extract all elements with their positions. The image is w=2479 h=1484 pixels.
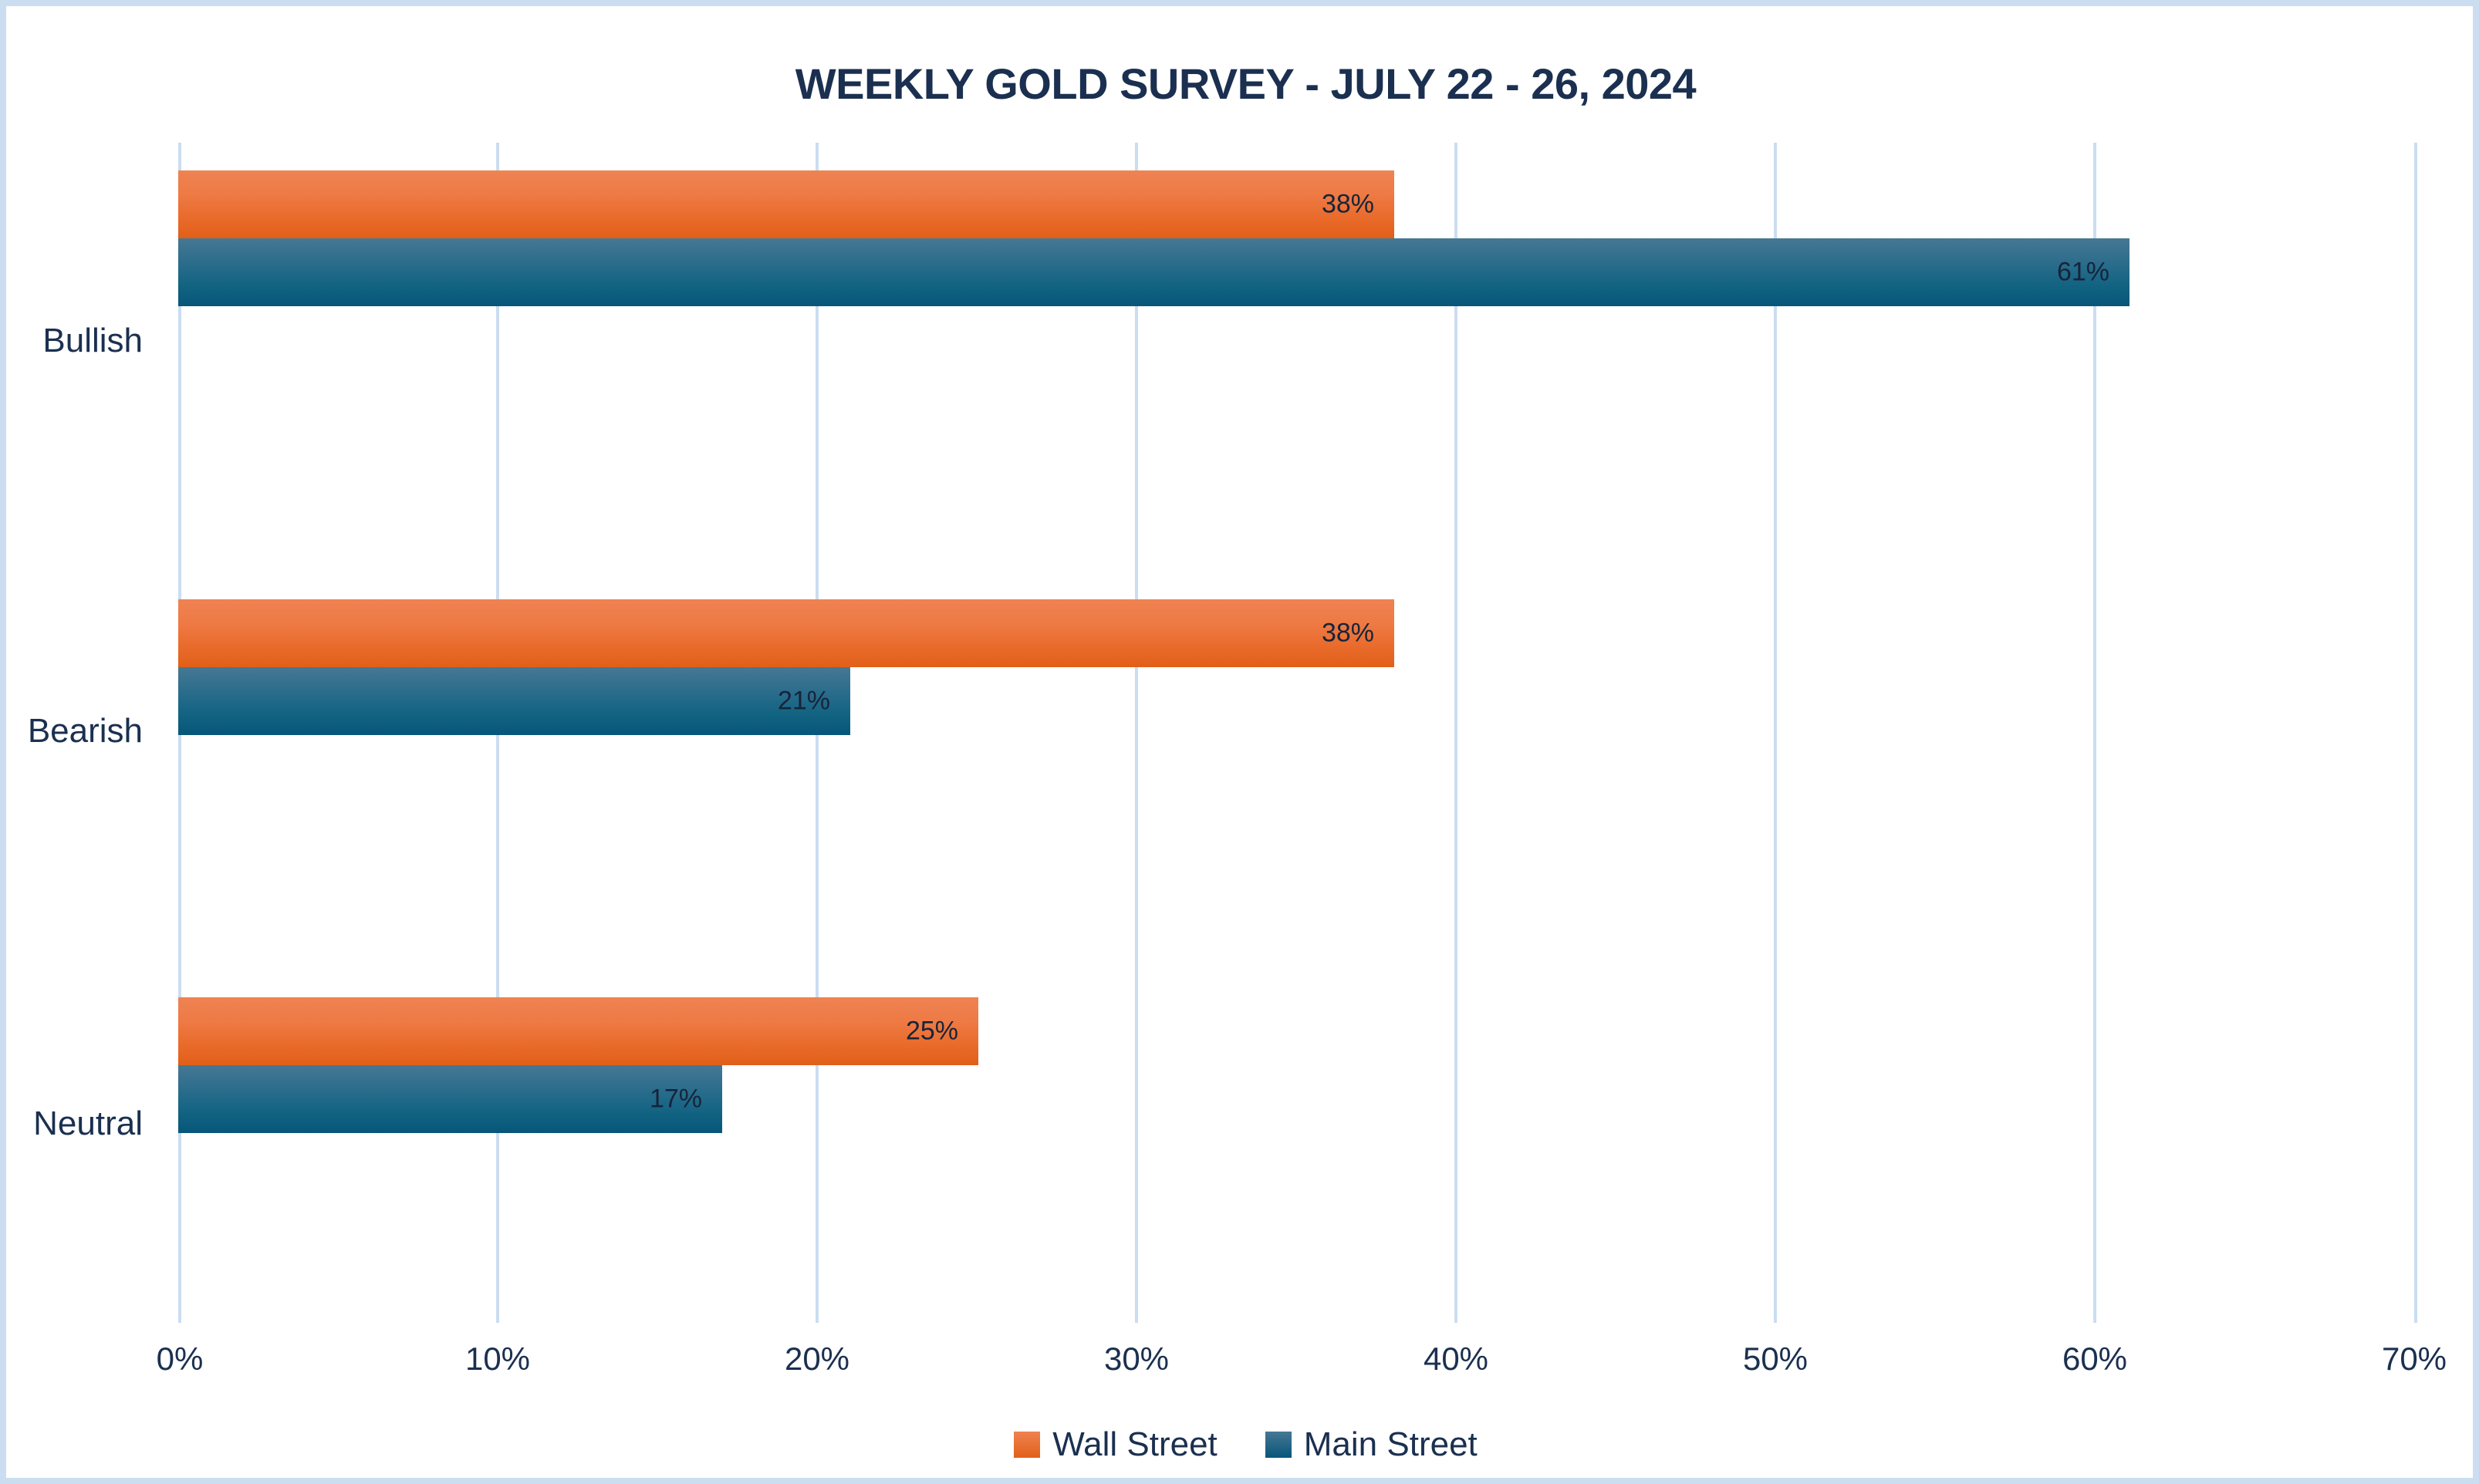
bar-bullish-wall-street[interactable]: 38% (178, 170, 1394, 238)
chart-page: WEEKLY GOLD SURVEY - JULY 22 - 26, 2024 … (0, 0, 2479, 1484)
x-tick-40: 40% (1424, 1341, 1488, 1378)
bar-bearish-wall-street[interactable]: 38% (178, 599, 1394, 667)
legend-label: Main Street (1304, 1425, 1478, 1464)
page-title: WEEKLY GOLD SURVEY - JULY 22 - 26, 2024 (6, 59, 2479, 109)
x-tick-20: 20% (785, 1341, 849, 1378)
category-band-bearish: 38% 21% (178, 533, 2417, 923)
x-tick-30: 30% (1104, 1341, 1169, 1378)
category-label-bullish: Bullish (42, 322, 143, 360)
category-band-neutral: 25% 17% (178, 923, 2417, 1323)
bar-value-label: 25% (906, 1017, 958, 1047)
bar-value-label: 21% (778, 686, 830, 717)
legend-swatch-icon (1014, 1432, 1040, 1458)
x-tick-10: 10% (465, 1341, 530, 1378)
x-tick-50: 50% (1743, 1341, 1808, 1378)
x-tick-70: 70% (2382, 1341, 2447, 1378)
x-tick-0: 0% (157, 1341, 204, 1378)
legend-item-main-street[interactable]: Main Street (1265, 1425, 1478, 1464)
legend-swatch-icon (1265, 1432, 1292, 1458)
category-band-bullish: 38% 61% (178, 143, 2417, 533)
value-axis-labels: 0% 10% 20% 30% 40% 50% 60% 70% (178, 1341, 2417, 1395)
bar-bearish-main-street[interactable]: 21% (178, 667, 850, 735)
category-label-neutral: Neutral (33, 1105, 143, 1143)
bar-neutral-main-street[interactable]: 17% (178, 1065, 722, 1133)
bar-value-label: 38% (1322, 190, 1374, 220)
bar-value-label: 17% (650, 1084, 702, 1115)
bar-bullish-main-street[interactable]: 61% (178, 238, 2129, 306)
bar-neutral-wall-street[interactable]: 25% (178, 997, 978, 1065)
category-label-bearish: Bearish (28, 712, 143, 750)
plot-area: 38% 61% 38% 21% (178, 143, 2417, 1323)
legend-item-wall-street[interactable]: Wall Street (1014, 1425, 1218, 1464)
category-axis-labels: Bullish Bearish Neutral (6, 143, 157, 1323)
legend-label: Wall Street (1052, 1425, 1218, 1464)
bar-value-label: 38% (1322, 619, 1374, 649)
x-tick-60: 60% (2062, 1341, 2127, 1378)
chart-legend: Wall Street Main Street (6, 1425, 2479, 1464)
bar-value-label: 61% (2057, 258, 2109, 288)
